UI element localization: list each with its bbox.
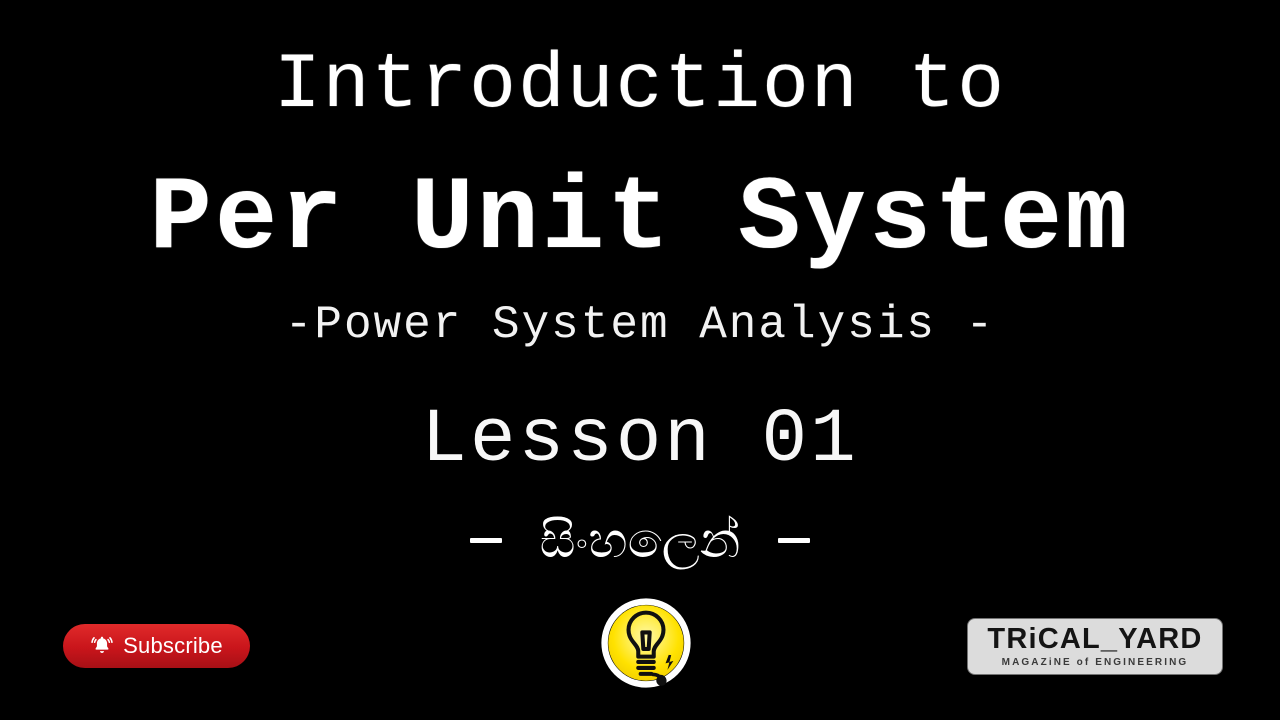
lightbulb-icon [600, 597, 692, 689]
left-dash-divider [470, 538, 502, 543]
page-title-line-2: Per Unit System [0, 160, 1280, 280]
language-note-label: සිංහලෙන් [540, 504, 741, 576]
bell-icon [90, 634, 114, 658]
video-title-slide: Introduction to Per Unit System -Power S… [0, 0, 1280, 720]
subscribe-button-label: Subscribe [123, 634, 223, 658]
brand-watermark: TRiCAL_YARD MAGAZiNE of ENGINEERING [968, 619, 1222, 674]
language-note: සිංහලෙන් [0, 500, 1280, 580]
brand-tagline: MAGAZiNE of ENGINEERING [1002, 656, 1189, 669]
brand-name: TRiCAL_YARD [987, 624, 1202, 655]
right-dash-divider [778, 538, 810, 543]
course-subtitle: -Power System Analysis - [0, 294, 1280, 356]
lesson-number: Lesson 01 [0, 392, 1280, 488]
page-title-line-1: Introduction to [0, 38, 1280, 134]
subscribe-button[interactable]: Subscribe [63, 624, 250, 668]
